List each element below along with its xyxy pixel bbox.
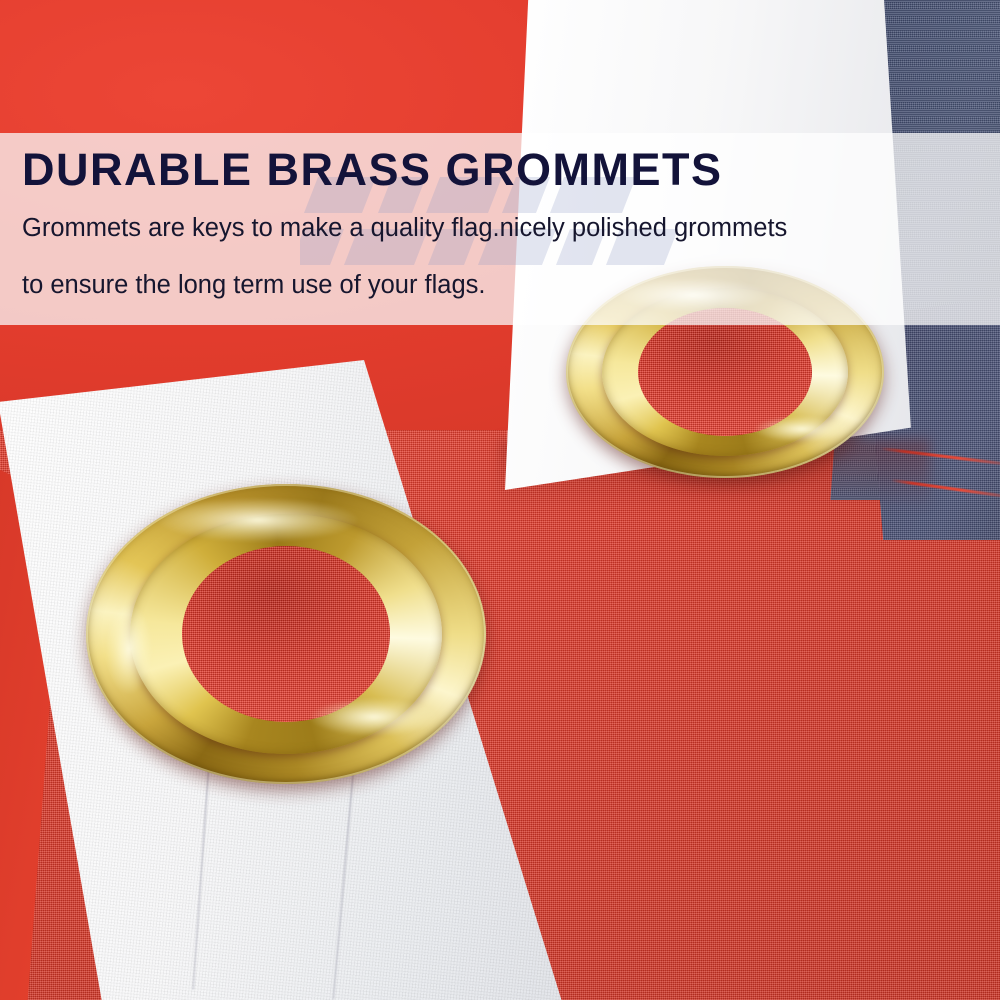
description-line-2: to ensure the long term use of your flag… [22,273,978,299]
grommet-large-inner-weave [182,546,390,722]
banner-text-block: DURABLE BRASS GROMMETS Grommets are keys… [22,133,978,298]
grommet-large [86,484,486,784]
grommet-small-inner-weave [638,308,812,436]
marketing-text-banner: johnin DURABLE BRASS GROMMETS Grommets a… [0,133,1000,325]
page-title: DURABLE BRASS GROMMETS [22,147,978,192]
grommet-large-hole [182,546,390,722]
grommet-small-hole [638,308,812,436]
product-image: johnin DURABLE BRASS GROMMETS Grommets a… [0,0,1000,1000]
description-line-1: Grommets are keys to make a quality flag… [22,216,978,242]
